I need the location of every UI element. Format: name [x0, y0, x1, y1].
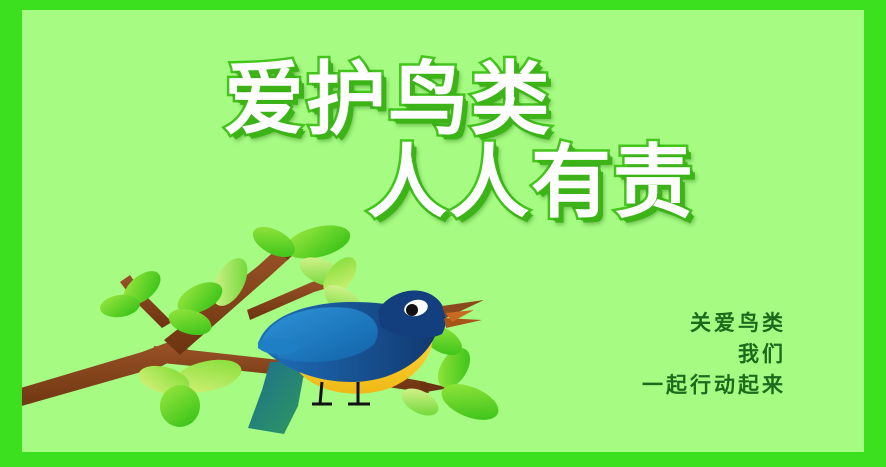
- slogan-line-2: 我们: [642, 339, 786, 370]
- bird-beak-lower: [444, 318, 482, 328]
- headline-line-2: 人人有责: [367, 139, 695, 227]
- headline-line-1: 爱护鸟类: [224, 56, 552, 144]
- slogan-line-3: 一起行动起来: [642, 370, 786, 401]
- poster-canvas: 爱护鸟类 人人有责 关爱鸟类 我们 一起行动起来: [0, 0, 886, 467]
- slogan-block: 关爱鸟类 我们 一起行动起来: [642, 308, 786, 401]
- bird-tail: [248, 362, 306, 434]
- slogan-line-1: 关爱鸟类: [642, 308, 786, 339]
- bird-eye-pupil: [406, 304, 418, 316]
- poster-inner-area: 爱护鸟类 人人有责 关爱鸟类 我们 一起行动起来: [22, 10, 864, 452]
